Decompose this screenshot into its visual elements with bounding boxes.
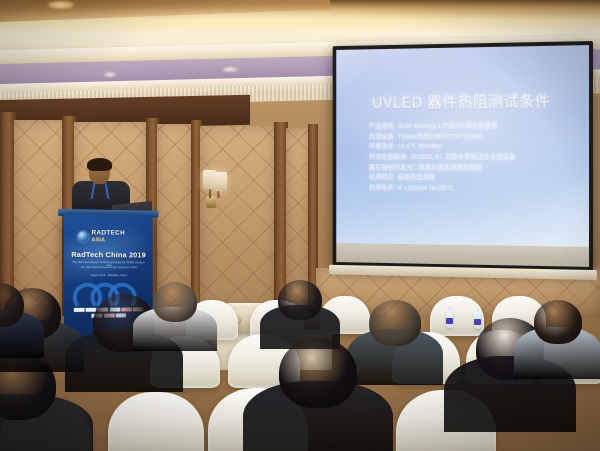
ceiling-lamp-icon bbox=[48, 1, 74, 9]
projection-screen: UVLED 器件热阻测试条件 产品规格: 3535 Molding 120度IC… bbox=[333, 41, 593, 271]
slide-body-line: 检测条件: IF=700mA Ta=25℃ bbox=[369, 184, 573, 196]
slide-body-line: 露在辐射的发光二极管的真实热阻和阻抗 bbox=[369, 163, 573, 174]
ceiling-spotlight-icon bbox=[222, 67, 238, 72]
audience-head bbox=[534, 300, 582, 344]
logo-asia-text: ASIA bbox=[91, 237, 124, 243]
cove-light-glow bbox=[0, 6, 600, 32]
screen-surface: UVLED 器件热阻测试条件 产品规格: 3535 Molding 120度IC… bbox=[336, 45, 589, 249]
bottle-cap bbox=[448, 307, 451, 311]
sconce-backplate bbox=[206, 196, 216, 208]
woman-right-long-hair bbox=[243, 338, 393, 451]
audience-head bbox=[153, 282, 197, 322]
radtech-asia-logo: RADTECH ASIA bbox=[78, 230, 125, 243]
conference-room-photo: UVLED 器件热阻测试条件 产品规格: 3535 Molding 120度IC… bbox=[0, 0, 600, 451]
podium-headline: RadTech China 2019 bbox=[64, 250, 153, 259]
ceiling-spotlight-icon bbox=[104, 72, 116, 77]
podium-dateline: August 2019 · Shanghai, China bbox=[70, 274, 147, 277]
man-left-rear bbox=[0, 283, 44, 375]
woman-far-right-ponytail bbox=[514, 300, 600, 396]
audience-head bbox=[278, 280, 322, 320]
slide-body-line: 检测依据标准: JESD51-51 实验中学测试方法测量暴 bbox=[369, 153, 573, 164]
speaker-hair bbox=[87, 158, 112, 171]
sconce-shade-icon bbox=[214, 172, 227, 191]
slide-body: 产品规格: 3535 Molding 120度ICP氮化铝基板 检测设备: T3… bbox=[369, 121, 573, 195]
globe-icon bbox=[78, 231, 89, 242]
podium-subline-2: The 10th RadTech Asia Curing Conference … bbox=[70, 266, 147, 269]
man-center-glasses-white bbox=[133, 282, 217, 366]
audience-head bbox=[279, 338, 357, 408]
slide-body-line: 检测设备: T3Ster热阻分析仪(TST12266) bbox=[369, 132, 573, 143]
slide-body-line: 环境条件: 24.5℃ 50%RH bbox=[369, 142, 573, 153]
slide-title: UVLED 器件热阻测试条件 bbox=[336, 89, 589, 113]
bottle-cap bbox=[476, 308, 479, 312]
